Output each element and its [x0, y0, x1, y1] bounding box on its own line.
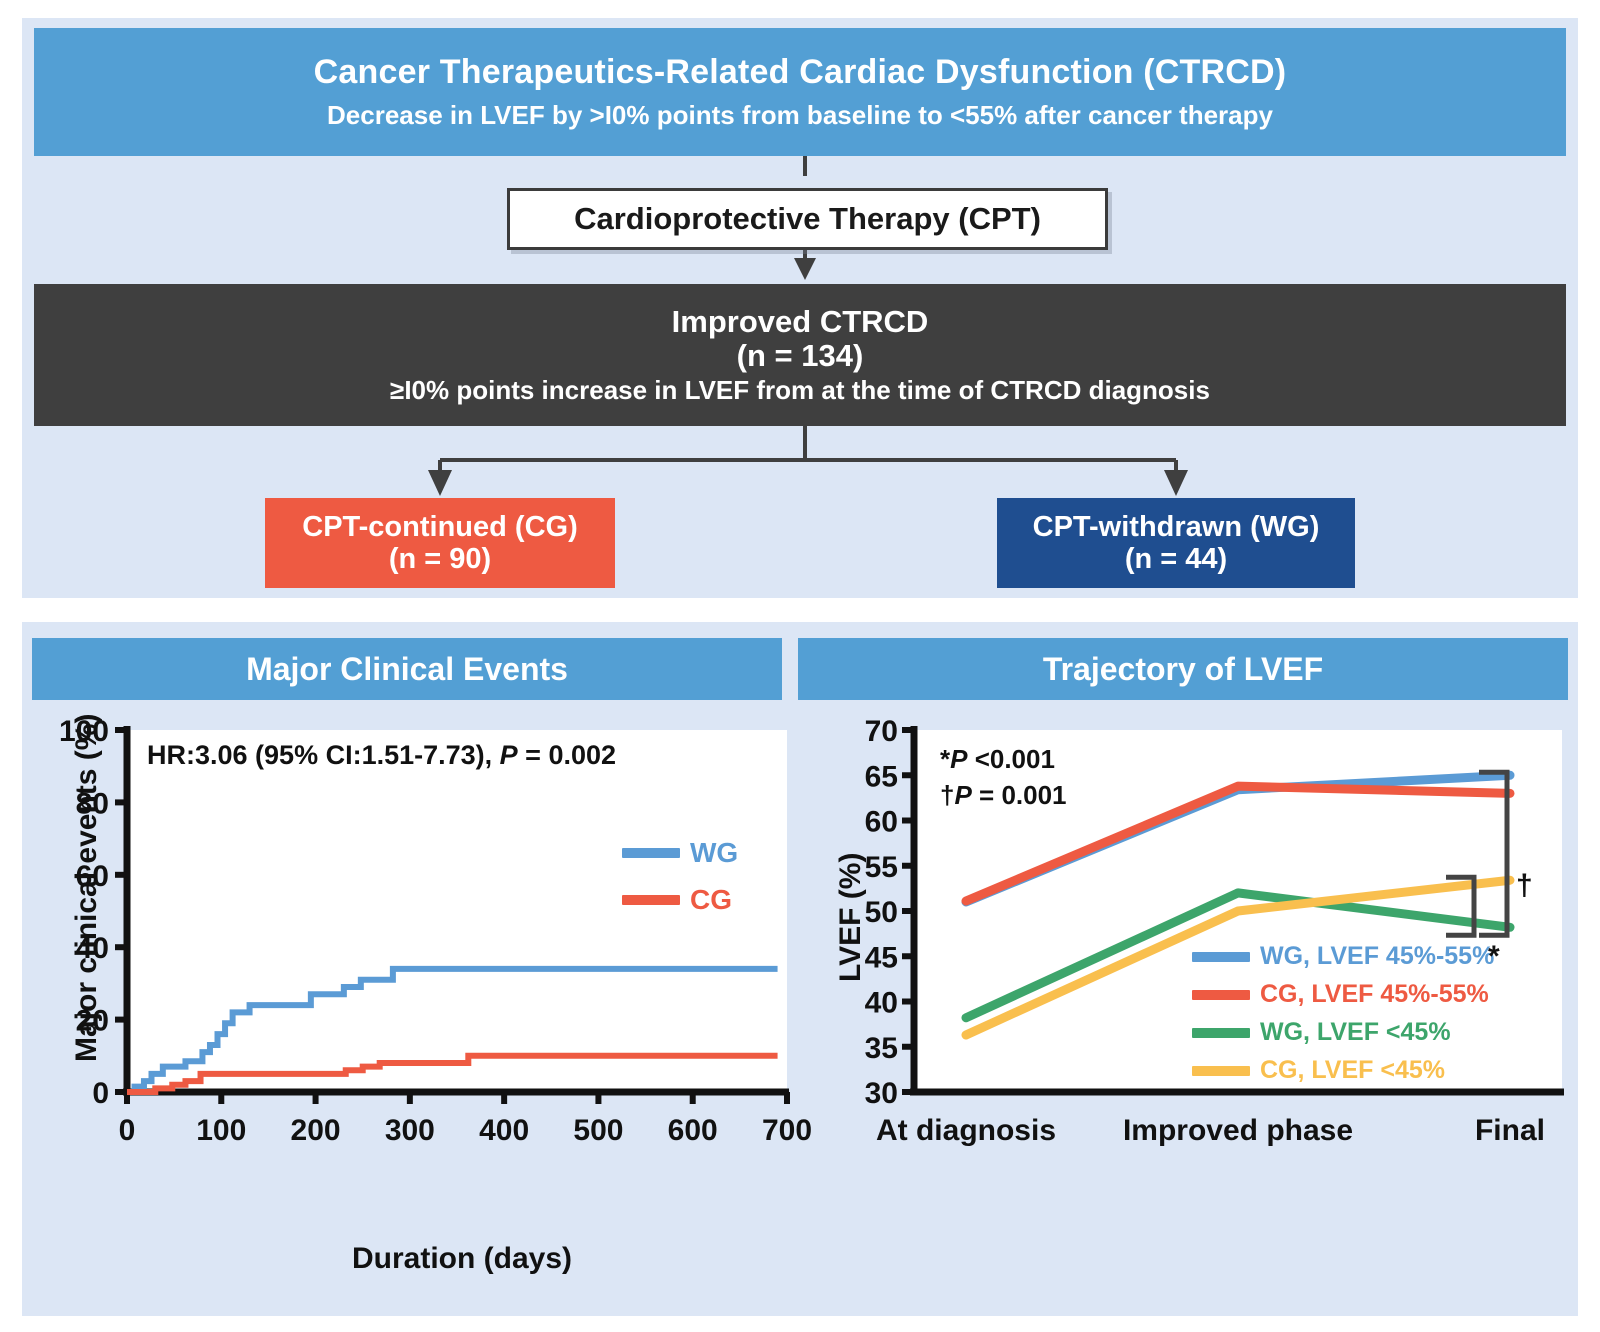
cpt-continued-count: (n = 90) — [389, 543, 491, 575]
legend-item-wg-4555: WG, LVEF 45%-55% — [1192, 942, 1494, 971]
y-tick-label: 45 — [865, 941, 898, 974]
legend-swatch-cg-lt45 — [1192, 1066, 1250, 1076]
legend-item-cg-4555: CG, LVEF 45%-55% — [1192, 980, 1489, 1009]
flowchart-panel: Cancer Therapeutics-Related Cardiac Dysf… — [22, 18, 1578, 598]
x-category-label: At diagnosis — [876, 1114, 1056, 1147]
legend-item-wg-lt45: WG, LVEF <45% — [1192, 1018, 1451, 1047]
legend-label-cg-4555: CG, LVEF 45%-55% — [1260, 980, 1489, 1009]
dagger-symbol: † — [940, 780, 954, 810]
asterisk-symbol: * — [940, 744, 950, 774]
improved-ctrcd-title: Improved CTRCD — [672, 305, 929, 340]
improved-ctrcd-count: (n = 134) — [737, 339, 864, 374]
x-category-label: Improved phase — [1123, 1114, 1353, 1147]
y-tick-label: 55 — [865, 851, 898, 884]
legend-swatch-wg-lt45 — [1192, 1028, 1250, 1038]
y-tick-label: 40 — [865, 987, 898, 1020]
improved-ctrcd-criteria: ≥I0% points increase in LVEF from at the… — [390, 376, 1210, 405]
y-tick-label: 65 — [865, 760, 898, 793]
ctrcd-banner: Cancer Therapeutics-Related Cardiac Dysf… — [34, 28, 1566, 156]
y-tick-label: 70 — [865, 715, 898, 748]
cpt-withdrawn-count: (n = 44) — [1125, 543, 1227, 575]
ctrcd-title: Cancer Therapeutics-Related Cardiac Dysf… — [314, 54, 1287, 91]
legend-label-cg-lt45: CG, LVEF <45% — [1260, 1056, 1445, 1085]
cpt-continued-box: CPT-continued (CG) (n = 90) — [265, 498, 615, 588]
y-tick-label: 30 — [865, 1077, 898, 1110]
trajectory-y-axis-title: LVEF (%) — [834, 853, 868, 982]
legend-label-wg-4555: WG, LVEF 45%-55% — [1260, 942, 1494, 971]
cpt-label: Cardioprotective Therapy (CPT) — [574, 201, 1041, 237]
legend-swatch-wg-4555 — [1192, 952, 1250, 962]
x-category-label: Final — [1475, 1114, 1545, 1147]
y-tick-label: 60 — [865, 806, 898, 839]
cardioprotective-therapy-box: Cardioprotective Therapy (CPT) — [507, 188, 1108, 250]
bracket-asterisk-symbol: * — [1488, 940, 1500, 974]
legend-item-cg-lt45: CG, LVEF <45% — [1192, 1056, 1445, 1085]
charts-panel: Major Clinical Events Trajectory of LVEF… — [22, 622, 1578, 1316]
cpt-withdrawn-label: CPT-withdrawn (WG) — [1033, 511, 1320, 543]
legend-swatch-cg-4555 — [1192, 990, 1250, 1000]
cpt-withdrawn-box: CPT-withdrawn (WG) (n = 44) — [997, 498, 1355, 588]
figure-root: Cancer Therapeutics-Related Cardiac Dysf… — [0, 0, 1600, 1332]
ctrcd-subtitle: Decrease in LVEF by >I0% points from bas… — [327, 101, 1273, 130]
p-value-asterisk-note: *P <0.001 — [940, 744, 1055, 775]
y-tick-label: 35 — [865, 1032, 898, 1065]
cpt-continued-label: CPT-continued (CG) — [302, 511, 577, 543]
bracket-dagger-symbol: † — [1516, 869, 1533, 903]
y-tick-label: 50 — [865, 896, 898, 929]
improved-ctrcd-box: Improved CTRCD (n = 134) ≥I0% points inc… — [34, 284, 1566, 426]
p-value-dagger-note: †P = 0.001 — [940, 780, 1067, 811]
legend-label-wg-lt45: WG, LVEF <45% — [1260, 1018, 1451, 1047]
